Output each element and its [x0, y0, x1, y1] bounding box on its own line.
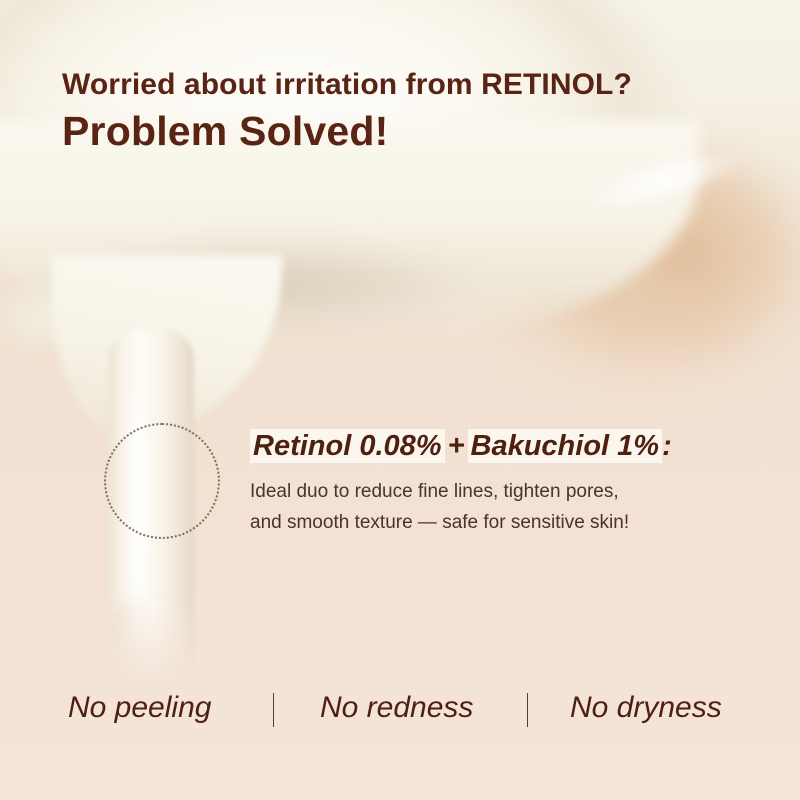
benefit-divider-2 [527, 693, 528, 727]
description-line-2: and smooth texture — safe for sensitive … [250, 508, 750, 539]
ingredient-bakuchiol: Bakuchiol 1% [468, 429, 663, 463]
headline-block: Worried about irritation from RETINOL? P… [62, 68, 632, 155]
description-line-1: Ideal duo to reduce fine lines, tighten … [250, 477, 750, 508]
promo-poster: Worried about irritation from RETINOL? P… [0, 0, 800, 800]
benefit-divider-1 [273, 693, 274, 727]
benefit-no-redness: No redness [320, 678, 473, 738]
ingredient-description: Ideal duo to reduce fine lines, tighten … [250, 477, 750, 539]
dotted-circle-icon [104, 423, 220, 539]
ingredient-callout: Retinol 0.08%+Bakuchiol 1%: Ideal duo to… [250, 428, 750, 539]
benefits-strip: No peeling No redness No dryness [0, 678, 800, 738]
headline-answer: Problem Solved! [62, 108, 632, 155]
headline-question: Worried about irritation from RETINOL? [62, 68, 632, 101]
ingredient-title: Retinol 0.08%+Bakuchiol 1%: [250, 428, 750, 464]
benefit-no-peeling: No peeling [68, 678, 211, 738]
ingredient-plus-sign: + [445, 430, 468, 462]
ingredient-retinol: Retinol 0.08% [250, 429, 445, 463]
benefit-no-dryness: No dryness [570, 678, 722, 738]
ingredient-colon: : [662, 430, 672, 462]
